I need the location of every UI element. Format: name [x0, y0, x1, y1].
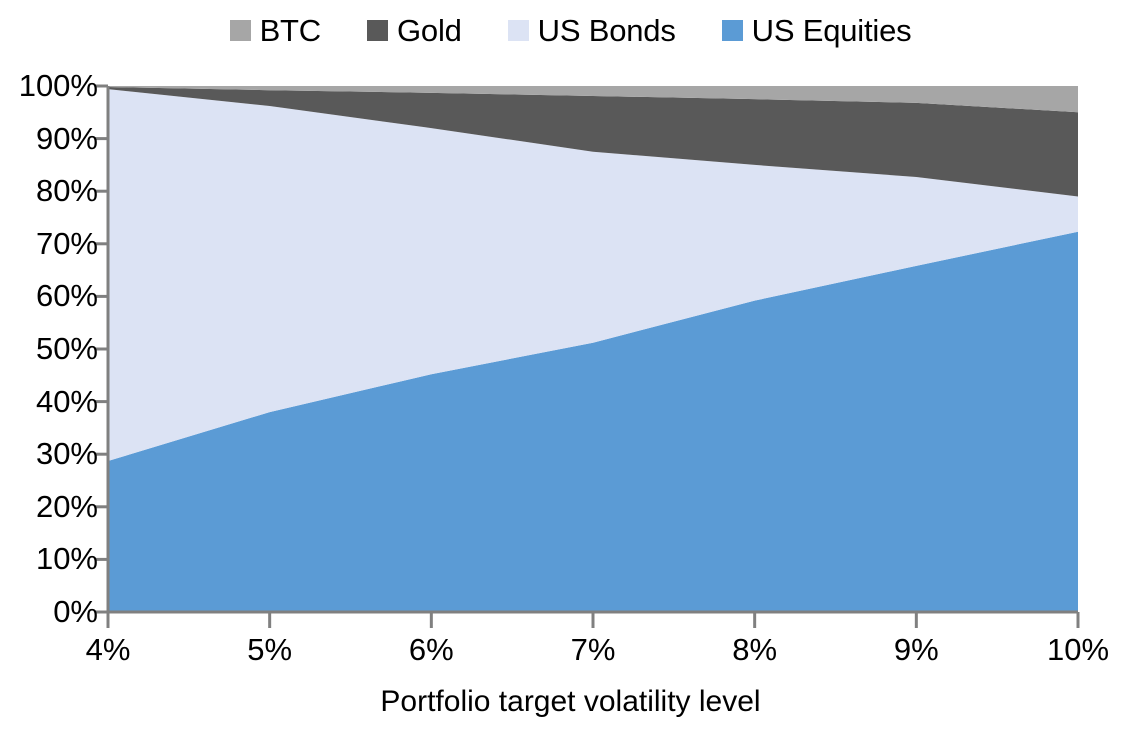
- x-tick-label: 6%: [409, 634, 454, 665]
- x-tick-label: 10%: [1047, 634, 1109, 665]
- x-axis: 4%5%6%7%8%9%10%: [0, 0, 1141, 742]
- x-tick-label: 4%: [86, 634, 131, 665]
- x-tick-label: 8%: [732, 634, 777, 665]
- x-tick-label: 5%: [247, 634, 292, 665]
- x-axis-title: Portfolio target volatility level: [0, 687, 1141, 717]
- x-tick-label: 7%: [571, 634, 616, 665]
- stacked-area-chart: BTC Gold US Bonds US Equities 0%10%20%30…: [0, 0, 1141, 742]
- x-tick-label: 9%: [894, 634, 939, 665]
